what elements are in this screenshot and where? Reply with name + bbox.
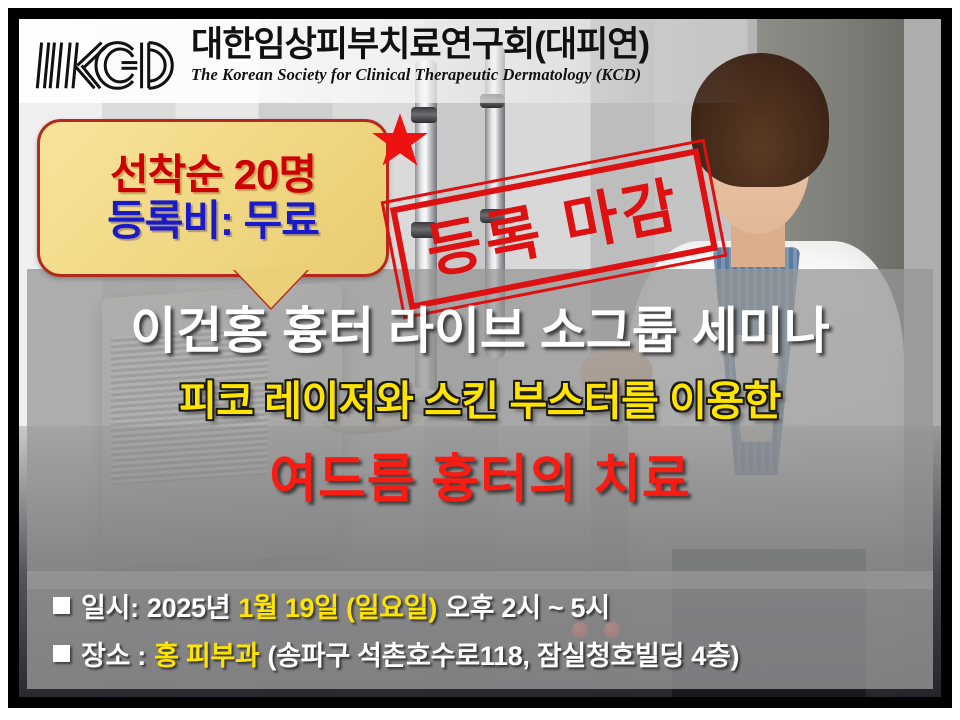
place-highlight: 홍 피부과: [154, 634, 259, 673]
kcd-monogram-icon: [33, 29, 183, 99]
seminar-title: 이건홍 흉터 라이브 소그룹 세미나: [19, 305, 941, 358]
seminar-subtitle: 피코 레이저와 스킨 부스터를 이용한: [19, 380, 941, 423]
badge-speech-tail: [233, 268, 309, 308]
badge-capacity-text: 선착순 20명: [110, 154, 316, 196]
info-row-place: 장소 : 홍 피부과 (송파구 석촌호수로118, 잠실청호빌딩 4층): [53, 629, 933, 677]
organization-name-english: The Korean Society for Clinical Therapeu…: [191, 65, 649, 85]
date-label: 일시:: [81, 586, 139, 625]
place-address: (송파구 석촌호수로118, 잠실청호빌딩 4층): [268, 634, 740, 673]
poster-frame: 대한임상피부치료연구회(대피연) The Korean Society for …: [8, 8, 952, 708]
date-time: 오후 2시 ~ 5시: [445, 586, 610, 625]
info-row-date: 일시: 2025년 1월 19일 (일요일) 오후 2시 ~ 5시: [53, 581, 933, 629]
poster-header: 대한임상피부치료연구회(대피연) The Korean Society for …: [33, 25, 941, 105]
title-block: 이건홍 흉터 라이브 소그룹 세미나 피코 레이저와 스킨 부스터를 이용한 여…: [19, 305, 941, 508]
date-year: 2025년: [147, 586, 230, 625]
date-highlight: 1월 19일 (일요일): [238, 586, 437, 625]
registration-badge: 선착순 20명 등록비: 무료: [37, 119, 389, 277]
square-bullet-icon: [53, 597, 70, 614]
seminar-topic: 여드름 흉터의 치료: [19, 453, 941, 508]
poster: 대한임상피부치료연구회(대피연) The Korean Society for …: [0, 0, 960, 720]
organization-name-korean: 대한임상피부치료연구회(대피연): [191, 27, 649, 64]
place-label: 장소 :: [81, 634, 146, 673]
badge-fee-text: 등록비: 무료: [107, 200, 319, 242]
red-star-icon: [371, 111, 429, 169]
header-text-block: 대한임상피부치료연구회(대피연) The Korean Society for …: [191, 25, 649, 85]
square-bullet-icon: [53, 645, 70, 662]
info-panel: 일시: 2025년 1월 19일 (일요일) 오후 2시 ~ 5시 장소 : 홍…: [27, 571, 933, 689]
